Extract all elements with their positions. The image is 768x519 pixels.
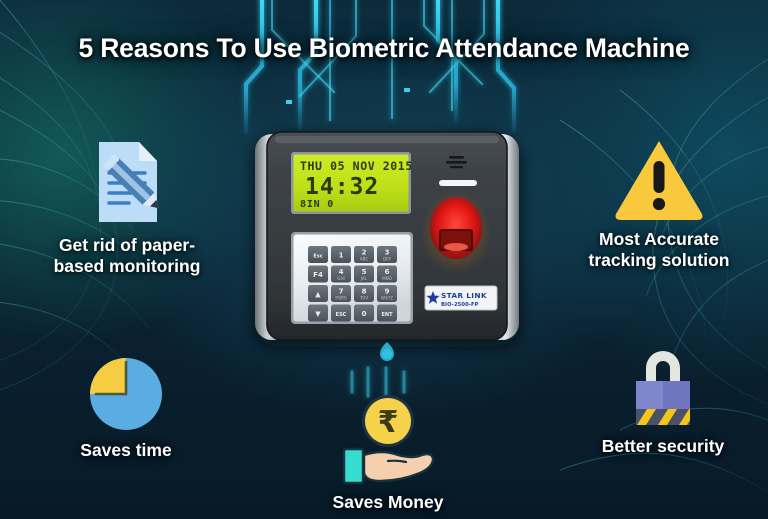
keypad-key[interactable]: Esc — [308, 246, 328, 263]
feature-label: Better security — [570, 436, 756, 457]
keypad-key[interactable]: 8TUV — [354, 285, 374, 302]
svg-text:1: 1 — [339, 252, 344, 260]
fingerprint-sensor — [420, 190, 492, 274]
svg-text:0: 0 — [362, 310, 367, 318]
feature-better-security: Better security — [570, 343, 756, 457]
keypad-key[interactable]: ▼ — [308, 305, 328, 322]
keypad-key[interactable]: 9WXYZ — [377, 285, 397, 302]
feature-saves-money: ₹ Saves Money — [302, 393, 474, 513]
svg-text:2: 2 — [362, 249, 367, 257]
keypad: Esc12ABC3DEFF44GHI5JKL6MNO▲7PQRS8TUV9WXY… — [291, 232, 413, 324]
feature-saves-time: Saves time — [42, 355, 210, 461]
svg-text:3: 3 — [385, 249, 390, 257]
keypad-key[interactable]: 6MNO — [377, 266, 397, 283]
icon-container — [22, 136, 232, 228]
feature-label: Saves Money — [302, 492, 474, 513]
svg-text:5: 5 — [362, 268, 367, 276]
svg-text:9: 9 — [385, 288, 390, 296]
svg-text:▼: ▼ — [315, 310, 321, 318]
lcd-status-line: 8IN 0 — [300, 199, 334, 210]
svg-text:JKL: JKL — [360, 276, 368, 281]
icon-container: ₹ — [302, 393, 474, 485]
svg-text:ENT: ENT — [381, 312, 393, 318]
svg-text:GHI: GHI — [337, 276, 344, 281]
feature-paper-monitoring: Get rid of paper- based monitoring — [22, 136, 232, 277]
page-title: 5 Reasons To Use Biometric Attendance Ma… — [0, 33, 768, 64]
svg-text:4: 4 — [339, 268, 344, 276]
warning-triangle-icon — [613, 136, 705, 222]
feature-label: Saves time — [42, 440, 210, 461]
icon-container — [42, 355, 210, 433]
svg-text:DEF: DEF — [383, 256, 392, 261]
svg-text:6: 6 — [385, 268, 390, 276]
svg-text:₹: ₹ — [378, 405, 399, 440]
keypad-key[interactable]: ESC — [331, 305, 351, 322]
biometric-attendance-machine[interactable]: THU 05 NOV 2015 14:32 8IN 0 — [253, 128, 521, 346]
connector-pin — [380, 342, 394, 361]
keypad-key[interactable]: 1 — [331, 246, 351, 263]
svg-text:ESC: ESC — [336, 312, 347, 318]
keypad-key[interactable]: 4GHI — [331, 266, 351, 283]
svg-text:MNO: MNO — [382, 276, 392, 281]
brand-name: STAR LINK — [441, 291, 487, 300]
svg-text:PQRS: PQRS — [335, 295, 347, 300]
lcd-time-line: 14:32 — [305, 174, 379, 200]
hand-coin-rupee-icon: ₹ — [336, 393, 440, 485]
svg-text:F4: F4 — [313, 271, 323, 279]
feature-label: Most Accurate tracking solution — [556, 229, 762, 271]
svg-text:WXYZ: WXYZ — [381, 295, 393, 300]
infographic-canvas: 5 Reasons To Use Biometric Attendance Ma… — [0, 0, 768, 519]
lcd-display: THU 05 NOV 2015 14:32 8IN 0 — [291, 152, 413, 214]
keypad-key[interactable]: 3DEF — [377, 246, 397, 263]
padlock-icon — [625, 343, 701, 429]
brand-plate: STAR LINK BIO-2500-FP — [425, 286, 497, 310]
svg-text:ABC: ABC — [360, 256, 369, 261]
keypad-key[interactable]: 0 — [354, 305, 374, 322]
feature-label: Get rid of paper- based monitoring — [22, 235, 232, 277]
lcd-date-line: THU 05 NOV 2015 — [300, 159, 413, 173]
keypad-key[interactable]: F4 — [308, 266, 328, 283]
svg-text:TUV: TUV — [359, 295, 368, 300]
keypad-key[interactable]: 2ABC — [354, 246, 374, 263]
keypad-key[interactable]: ENT — [377, 305, 397, 322]
status-led-strip — [439, 180, 477, 186]
svg-text:8: 8 — [362, 288, 367, 296]
svg-text:▲: ▲ — [315, 291, 321, 299]
svg-text:7: 7 — [339, 288, 344, 296]
pie-chart-icon — [87, 355, 165, 433]
document-pencil-icon — [81, 136, 173, 228]
keypad-key[interactable]: ▲ — [308, 285, 328, 302]
svg-text:Esc: Esc — [313, 254, 322, 260]
feature-accurate-tracking: Most Accurate tracking solution — [556, 136, 762, 271]
icon-container — [570, 343, 756, 429]
keypad-key[interactable]: 7PQRS — [331, 285, 351, 302]
brand-model: BIO-2500-FP — [441, 302, 479, 308]
icon-container — [556, 136, 762, 222]
keypad-key[interactable]: 5JKL — [354, 266, 374, 283]
